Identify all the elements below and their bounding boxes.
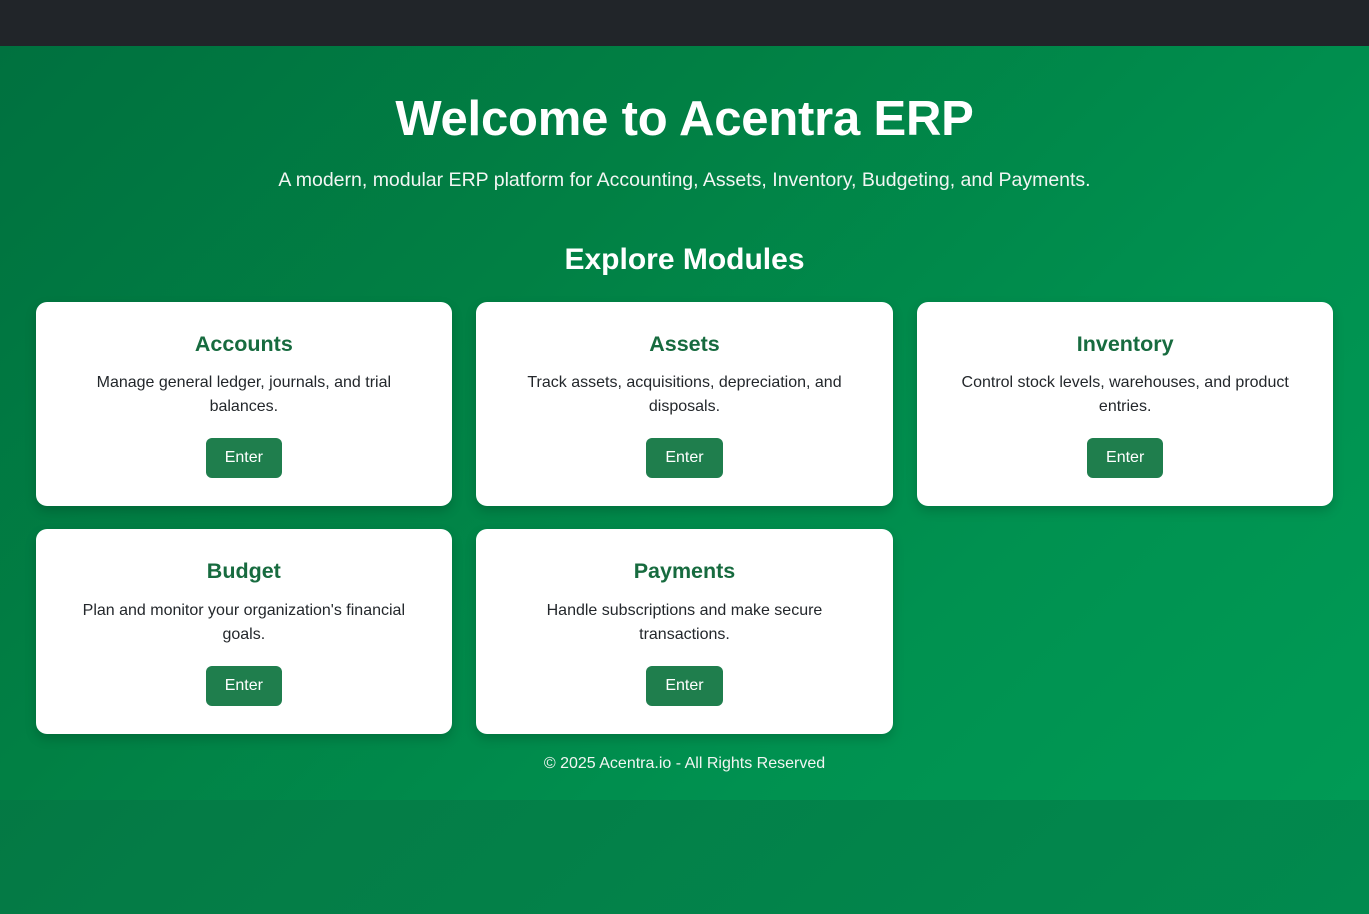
module-card-title: Payments: [634, 559, 736, 585]
page-footer: © 2025 Acentra.io - All Rights Reserved: [0, 728, 1369, 800]
module-card-title: Budget: [207, 559, 281, 585]
module-card-description: Handle subscriptions and make secure tra…: [519, 599, 849, 647]
enter-button-budget[interactable]: Enter: [206, 666, 282, 706]
module-card-payments[interactable]: Payments Handle subscriptions and make s…: [476, 529, 893, 734]
copyright-text: © 2025 Acentra.io - All Rights Reserved: [544, 755, 825, 773]
enter-button-assets[interactable]: Enter: [646, 438, 722, 478]
module-card-description: Manage general ledger, journals, and tri…: [79, 371, 409, 419]
module-card-description: Track assets, acquisitions, depreciation…: [519, 371, 849, 419]
module-card-budget[interactable]: Budget Plan and monitor your organizatio…: [36, 529, 453, 734]
module-card-title: Inventory: [1077, 332, 1174, 358]
page-container: Welcome to Acentra ERP A modern, modular…: [0, 46, 1369, 800]
enter-button-inventory[interactable]: Enter: [1087, 438, 1163, 478]
module-card-inventory[interactable]: Inventory Control stock levels, warehous…: [917, 302, 1334, 507]
module-card-description: Control stock levels, warehouses, and pr…: [960, 371, 1290, 419]
module-card-description: Plan and monitor your organization's fin…: [79, 599, 409, 647]
hero-section: Welcome to Acentra ERP A modern, modular…: [0, 47, 1369, 195]
module-card-grid: Accounts Manage general ledger, journals…: [36, 302, 1334, 735]
top-navbar: [0, 0, 1369, 46]
enter-button-accounts[interactable]: Enter: [206, 438, 282, 478]
explore-modules-heading: Explore Modules: [0, 243, 1369, 277]
module-card-title: Accounts: [195, 332, 293, 358]
module-card-assets[interactable]: Assets Track assets, acquisitions, depre…: [476, 302, 893, 507]
page-title: Welcome to Acentra ERP: [0, 91, 1369, 147]
page-subtitle: A modern, modular ERP platform for Accou…: [0, 167, 1369, 194]
module-card-title: Assets: [649, 332, 720, 358]
enter-button-payments[interactable]: Enter: [646, 666, 722, 706]
module-card-accounts[interactable]: Accounts Manage general ledger, journals…: [36, 302, 453, 507]
